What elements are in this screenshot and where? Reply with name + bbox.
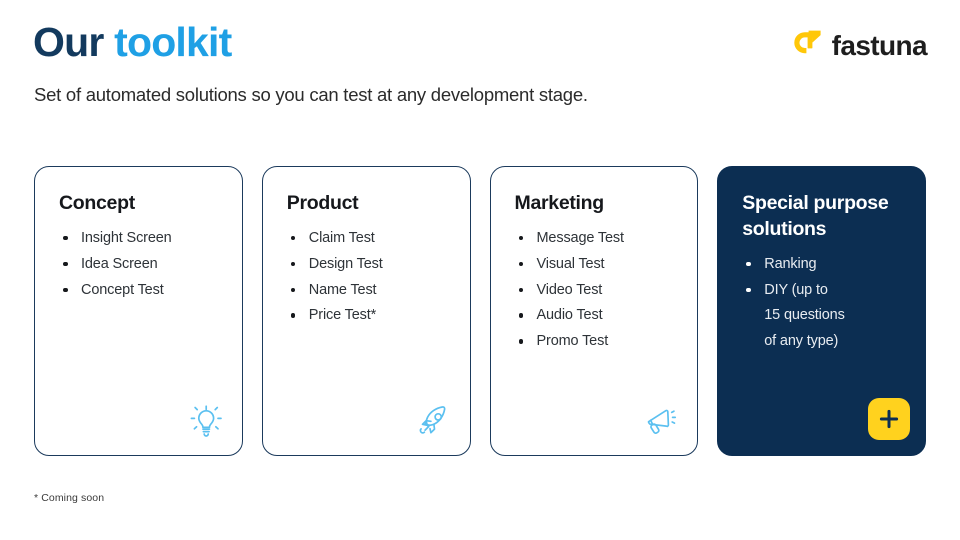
- list-item: Visual Test: [515, 252, 678, 278]
- page-subtitle: Set of automated solutions so you can te…: [34, 84, 588, 106]
- list-item: Design Test: [287, 252, 450, 278]
- page-title-part1: Our: [33, 19, 104, 65]
- toolkit-card-product[interactable]: Product Claim Test Design Test Name Test…: [262, 166, 471, 456]
- card-title: Marketing: [515, 191, 678, 217]
- page-title-part2: toolkit: [114, 19, 231, 65]
- megaphone-icon: [639, 399, 683, 443]
- card-item-list: Ranking DIY (up to 15 questions of any t…: [742, 252, 905, 355]
- page-title-space: [104, 19, 115, 65]
- card-item-list: Claim Test Design Test Name Test Price T…: [287, 226, 450, 329]
- toolkit-card-row: Concept Insight Screen Idea Screen Conce…: [34, 166, 926, 456]
- list-item: Promo Test: [515, 329, 678, 355]
- toolkit-card-concept[interactable]: Concept Insight Screen Idea Screen Conce…: [34, 166, 243, 456]
- toolkit-card-special-purpose-solutions[interactable]: Special purpose solutions Ranking DIY (u…: [717, 166, 926, 456]
- lightbulb-icon: [184, 399, 228, 443]
- card-item-list: Message Test Visual Test Video Test Audi…: [515, 226, 678, 355]
- footnote: * Coming soon: [34, 492, 104, 504]
- page-title: Our toolkit: [33, 22, 231, 63]
- brand-logo: fastuna: [793, 30, 927, 61]
- list-item: DIY (up to 15 questions of any type): [742, 278, 905, 355]
- header: Our toolkit Set of automated solutions s…: [0, 0, 960, 140]
- rocket-icon: [412, 399, 456, 443]
- list-item: Video Test: [515, 278, 678, 304]
- list-item: Name Test: [287, 278, 450, 304]
- card-title: Product: [287, 191, 450, 217]
- list-item: Ranking: [742, 252, 905, 278]
- plus-icon: [878, 408, 900, 430]
- list-item: Message Test: [515, 226, 678, 252]
- list-item: Claim Test: [287, 226, 450, 252]
- add-solution-button[interactable]: [868, 398, 910, 440]
- list-item: Idea Screen: [59, 252, 222, 278]
- card-title: Concept: [59, 191, 222, 217]
- list-item: Audio Test: [515, 303, 678, 329]
- toolkit-card-marketing[interactable]: Marketing Message Test Visual Test Video…: [490, 166, 699, 456]
- list-item: Concept Test: [59, 278, 222, 304]
- card-item-list: Insight Screen Idea Screen Concept Test: [59, 226, 222, 303]
- card-title: Special purpose solutions: [742, 191, 905, 243]
- fastuna-mark-icon: [793, 30, 823, 61]
- list-item: Insight Screen: [59, 226, 222, 252]
- list-item: Price Test*: [287, 303, 450, 329]
- brand-logo-text: fastuna: [832, 32, 927, 60]
